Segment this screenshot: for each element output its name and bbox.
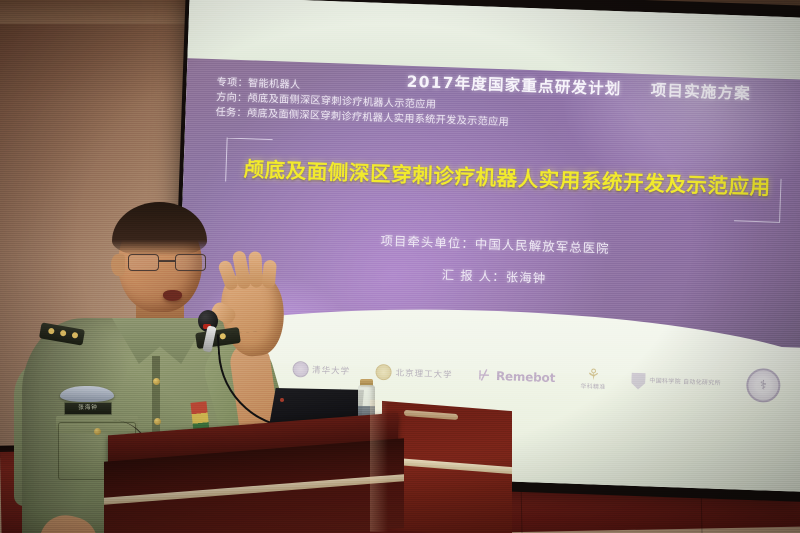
- laptop-indicator-light: [280, 398, 284, 402]
- remebot-label: Remebot: [496, 369, 556, 385]
- logo-medical-seal: ⚕: [746, 368, 781, 403]
- rank-star: [60, 330, 67, 337]
- finger: [248, 251, 263, 288]
- bit-label: 北京理工大学: [395, 367, 452, 381]
- lead-unit-value: 中国人民解放军总医院: [475, 236, 610, 256]
- name-plate-text: 张海钟: [65, 403, 111, 414]
- speaker-name-plate: 张海钟: [64, 402, 112, 415]
- remebot-mark-icon: ⊬: [478, 368, 490, 383]
- speaker-ear: [111, 254, 125, 276]
- lead-unit-label: 项目牵头单位：: [380, 233, 475, 251]
- partner-horse-label: 华科精准: [580, 383, 605, 391]
- slide-kicker-doctype: 项目实施方案: [650, 81, 751, 102]
- presenter-label: 汇 报 人：: [441, 267, 506, 284]
- rank-star: [48, 328, 55, 335]
- lens-left: [128, 254, 159, 271]
- uniform-button: [154, 418, 161, 425]
- presenter-value: 张海钟: [505, 269, 546, 285]
- speaker-hair: [112, 202, 207, 256]
- partner-shield-label: 中国科学院 自动化研究所: [649, 378, 721, 388]
- pocket-button: [94, 428, 101, 435]
- logo-partner-horse: ⚘ 华科精准: [580, 367, 606, 391]
- bit-seal-icon: [375, 364, 392, 381]
- kicker-spacer: [628, 94, 644, 95]
- speaker-mouth: [163, 290, 182, 301]
- shield-icon: [631, 372, 646, 389]
- horse-icon: ⚘: [586, 367, 600, 382]
- logo-partner-shield: 中国科学院 自动化研究所: [631, 372, 721, 392]
- glasses-bridge: [159, 260, 175, 262]
- logo-remebot: ⊬ Remebot: [478, 368, 556, 386]
- uniform-button: [153, 378, 160, 385]
- podium-edge-highlight: [370, 400, 388, 533]
- lens-right: [175, 254, 206, 271]
- chest-wing-badge: [60, 386, 114, 402]
- rank-star: [72, 332, 79, 339]
- presentation-photo-scene: 专项：智能机器人 方向：颅底及面侧深区穿刺诊疗机器人示范应用 任务：颅底及面侧深…: [0, 0, 800, 533]
- medical-seal-icon: ⚕: [746, 368, 781, 403]
- logo-bit: 北京理工大学: [375, 364, 453, 383]
- finger: [262, 260, 277, 289]
- eyeglasses-icon: [128, 254, 206, 271]
